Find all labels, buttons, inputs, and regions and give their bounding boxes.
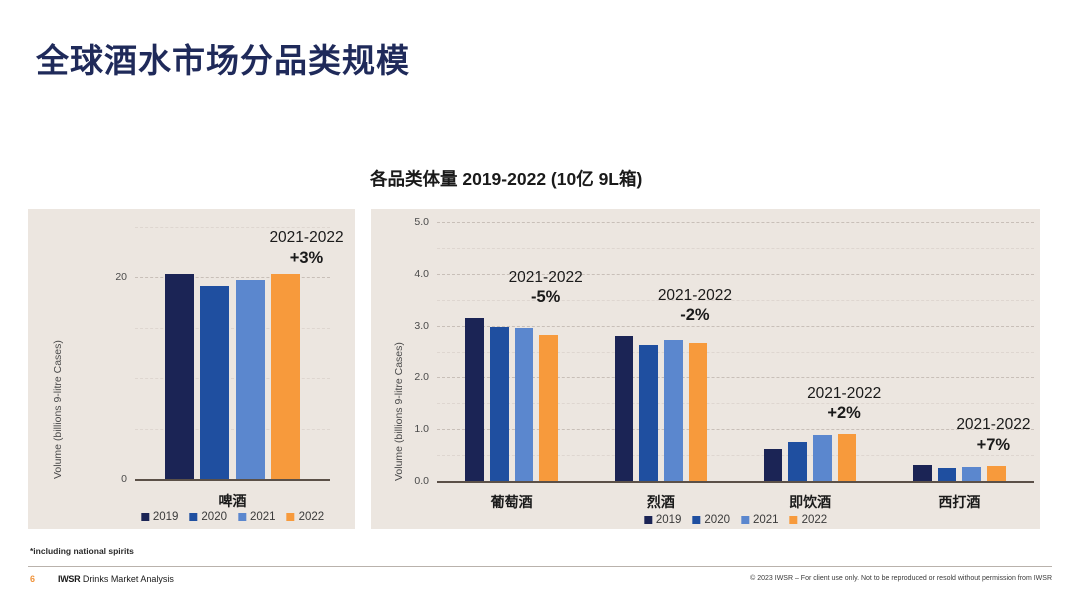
legend-label: 2020	[704, 514, 730, 526]
y-axis-tick-label: 1.0	[399, 423, 429, 435]
bar-葡萄酒-2021	[515, 328, 534, 481]
brand-mark: IWSR	[58, 574, 80, 584]
page-number: 6	[30, 574, 35, 584]
legend-label: 2020	[201, 511, 227, 523]
annotation-烈酒: 2021-2022-2%	[658, 286, 732, 326]
legend-swatch-icon	[141, 513, 149, 521]
legend-label: 2019	[153, 511, 179, 523]
legend-swatch-icon	[189, 513, 197, 521]
bar-西打酒-2020	[938, 468, 957, 481]
brand-text: Drinks Market Analysis	[80, 574, 174, 584]
legend-label: 2021	[753, 514, 779, 526]
y-axis-tick-label: 4.0	[399, 268, 429, 280]
bar-啤酒-2021	[236, 280, 265, 479]
legend-label: 2022	[802, 514, 828, 526]
gridline	[437, 222, 1034, 223]
annotation-change: +3%	[269, 248, 343, 269]
legend-item-2022[interactable]: 2022	[790, 514, 828, 526]
annotation-years: 2021-2022	[807, 384, 881, 403]
legend-item-2021[interactable]: 2021	[741, 514, 779, 526]
bar-葡萄酒-2022	[539, 335, 558, 481]
page-title: 全球酒水市场分品类规模	[36, 34, 410, 82]
y-axis-tick-label: 2.0	[399, 371, 429, 383]
footer-divider	[28, 566, 1052, 567]
y-axis-title: Volume (billions 9-litre Cases)	[393, 342, 405, 481]
x-axis-line	[437, 481, 1034, 483]
legend-swatch-icon	[644, 516, 652, 524]
annotation-years: 2021-2022	[956, 415, 1030, 434]
legend-label: 2021	[250, 511, 276, 523]
categories-chart-panel: Volume (billions 9-litre Cases)0.01.02.0…	[371, 209, 1040, 529]
legend-label: 2019	[656, 514, 682, 526]
legend-swatch-icon	[790, 516, 798, 524]
brand-label: IWSR Drinks Market Analysis	[58, 574, 174, 584]
bar-烈酒-2022	[689, 343, 708, 481]
annotation-啤酒: 2021-2022+3%	[269, 228, 343, 268]
annotation-change: -5%	[509, 287, 583, 308]
bar-西打酒-2021	[962, 467, 981, 481]
legend-swatch-icon	[287, 513, 295, 521]
annotation-即饮酒: 2021-2022+2%	[807, 384, 881, 424]
footnote: *including national spirits	[30, 546, 134, 556]
plot-area	[437, 222, 1034, 481]
legend-swatch-icon	[238, 513, 246, 521]
bar-啤酒-2022	[271, 274, 300, 479]
annotation-西打酒: 2021-2022+7%	[956, 415, 1030, 455]
y-axis-tick-label: 5.0	[399, 216, 429, 228]
category-label-西打酒: 西打酒	[938, 492, 980, 512]
legend-item-2019[interactable]: 2019	[141, 511, 179, 523]
category-label-啤酒: 啤酒	[219, 491, 247, 511]
annotation-years: 2021-2022	[509, 268, 583, 287]
bar-即饮酒-2022	[838, 434, 857, 481]
chart-subtitle: 各品类体量 2019-2022 (10亿 9L箱)	[370, 166, 642, 191]
legend-item-2021[interactable]: 2021	[238, 511, 276, 523]
bar-西打酒-2022	[987, 466, 1006, 481]
annotation-years: 2021-2022	[269, 228, 343, 247]
bar-葡萄酒-2020	[490, 327, 509, 481]
gridline	[437, 326, 1034, 327]
legend-label: 2022	[299, 511, 325, 523]
gridline	[135, 429, 330, 430]
bar-烈酒-2019	[615, 336, 634, 481]
y-axis-tick-label: 0	[97, 473, 127, 485]
annotation-change: -2%	[658, 305, 732, 326]
chart-legend: 2019202020212022	[141, 511, 324, 523]
x-axis-line	[135, 479, 330, 481]
annotation-change: +2%	[807, 403, 881, 424]
y-axis-title: Volume (billions 9-litre Cases)	[52, 340, 64, 479]
bar-西打酒-2019	[913, 465, 932, 481]
bar-烈酒-2020	[639, 345, 658, 481]
bar-即饮酒-2021	[813, 435, 832, 481]
legend-item-2020[interactable]: 2020	[189, 511, 227, 523]
bar-啤酒-2019	[165, 274, 194, 479]
y-axis-tick-label: 3.0	[399, 320, 429, 332]
chart-legend: 2019202020212022	[644, 514, 827, 526]
legend-item-2019[interactable]: 2019	[644, 514, 682, 526]
y-axis-tick-label: 20	[97, 271, 127, 283]
category-label-葡萄酒: 葡萄酒	[491, 492, 533, 512]
bar-即饮酒-2020	[788, 442, 807, 481]
beer-chart-panel: Volume (billions 9-litre Cases)020啤酒2021…	[28, 209, 355, 529]
annotation-years: 2021-2022	[658, 286, 732, 305]
gridline	[135, 378, 330, 379]
annotation-葡萄酒: 2021-2022-5%	[509, 268, 583, 308]
legend-item-2022[interactable]: 2022	[287, 511, 325, 523]
bar-啤酒-2020	[200, 286, 229, 479]
legend-item-2020[interactable]: 2020	[692, 514, 730, 526]
annotation-change: +7%	[956, 435, 1030, 456]
category-label-烈酒: 烈酒	[647, 492, 675, 512]
category-label-即饮酒: 即饮酒	[789, 492, 831, 512]
gridline	[135, 277, 330, 278]
copyright-notice: © 2023 IWSR – For client use only. Not t…	[750, 575, 1052, 582]
legend-swatch-icon	[692, 516, 700, 524]
y-axis-tick-label: 0.0	[399, 475, 429, 487]
legend-swatch-icon	[741, 516, 749, 524]
bar-葡萄酒-2019	[465, 318, 484, 481]
bar-即饮酒-2019	[764, 449, 783, 481]
bar-烈酒-2021	[664, 340, 683, 481]
gridline	[135, 328, 330, 329]
gridline	[437, 248, 1034, 249]
